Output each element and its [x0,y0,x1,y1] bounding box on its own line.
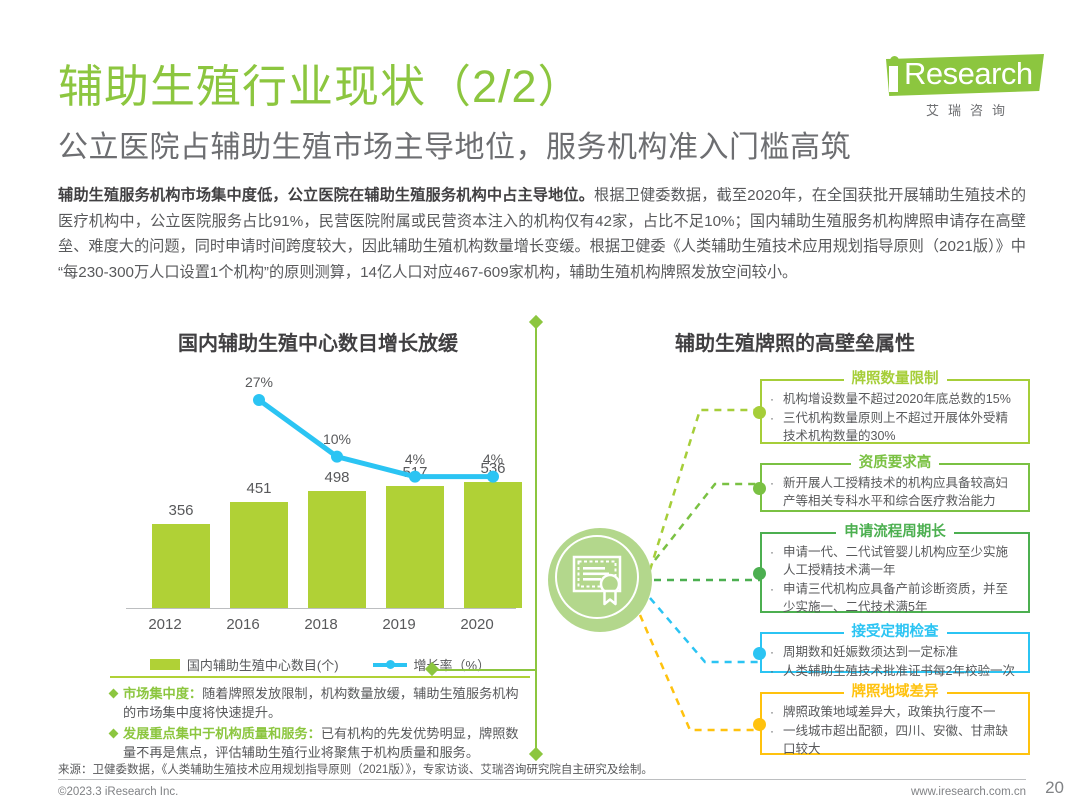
body-paragraph: 辅助生殖服务机构市场集中度低，公立医院在辅助生殖服务机构中占主导地位。根据卫健委… [58,183,1026,285]
chart-x-tick-label: 2012 [130,616,200,633]
legend-item-bars: 国内辅助生殖中心数目(个) [150,655,339,674]
legend-swatch-line-icon [373,659,407,670]
bullet-text: 申请三代机构应具备产前诊断资质，并至少实施一、二代技术满5年 [783,580,1020,616]
chart-x-tick-label: 2016 [208,616,278,633]
attribute-box-body: ·牌照政策地域差异大，政策执行度不一·一线城市超出配额，四川、安徽、甘肃缺口较大 [760,681,1030,767]
bullet-item: ·人类辅助生殖技术批准证书每2年校验一次 [770,662,1020,680]
bullet-dot-icon: · [770,703,774,721]
bullet-dot-icon: · [770,643,774,661]
bullet-dot-icon: · [770,580,774,598]
chart-plot-area: 35645149851753627%10%4%4% [126,360,516,608]
bullet-item: ·三代机构数量原则上不超过开展体外受精技术机构数量的30% [770,409,1020,445]
chart-x-tick-label: 2018 [286,616,356,633]
logo-mark: Research [872,52,1044,98]
diamond-bullet-icon [109,689,119,699]
logo-i-stem [889,66,898,92]
bullet-item: ·申请一代、二代试管婴儿机构应至少实施人工授精技术满一年 [770,543,1020,579]
bullet-text: 牌照政策地域差异大，政策执行度不一 [783,703,1020,721]
attribute-box: 牌照地域差异·牌照政策地域差异大，政策执行度不一·一线城市超出配额，四川、安徽、… [760,681,1030,755]
bullet-text: 周期数和妊娠数须达到一定标准 [783,643,1020,661]
bullet-item: ·周期数和妊娠数须达到一定标准 [770,643,1020,661]
note-text: 发展重点集中于机构质量和服务：已有机构的先发优势明显，牌照数量不再是焦点，评估辅… [123,725,530,762]
chart-line-point [331,451,343,463]
logo-i-dot-icon [890,56,899,65]
bullet-text: 人类辅助生殖技术批准证书每2年校验一次 [783,662,1020,680]
vertical-divider [535,322,537,754]
page-subtitle: 公立医院占辅助生殖市场主导地位，服务机构准入门槛高筑 [58,122,851,166]
footer-divider [58,779,1026,780]
logo-wordmark: Research [904,56,1033,92]
copyright: ©2023.3 iResearch Inc. [58,786,178,798]
divider-top-diamond-icon [529,315,543,329]
page-number: 20 [1045,778,1064,798]
bullet-item: ·一线城市超出配额，四川、安徽、甘肃缺口较大 [770,722,1020,758]
iresearch-logo: Research 艾瑞咨询 [872,52,1044,124]
bullet-text: 新开展人工授精技术的机构应具备较高妇产等相关专科水平和综合医疗救治能力 [783,474,1020,510]
bullet-dot-icon: · [770,474,774,492]
bullet-text: 机构增设数量不超过2020年底总数的15% [783,390,1020,408]
chart-line-value-label: 27% [229,374,289,390]
horizontal-connector-rule [432,669,537,671]
chart-line-value-label: 4% [463,451,523,467]
slide: 辅助生殖行业现状（2/2） 公立医院占辅助生殖市场主导地位，服务机构准入门槛高筑… [0,0,1080,810]
chart-line-point [409,471,421,483]
bar-line-chart: 35645149851753627%10%4%4% 20122016201820… [110,360,530,650]
chart-x-axis [126,608,516,609]
bullet-item: ·牌照政策地域差异大，政策执行度不一 [770,703,1020,721]
legend-swatch-bar-icon [150,659,180,670]
legend-label-bars: 国内辅助生殖中心数目(个) [187,655,339,674]
logo-chinese-name: 艾瑞咨询 [900,100,1040,119]
bullet-item: ·新开展人工授精技术的机构应具备较高妇产等相关专科水平和综合医疗救治能力 [770,474,1020,510]
insight-notes: 市场集中度：随着牌照发放限制，机构数量放缓，辅助生殖服务机构的市场集中度将快速提… [110,676,530,765]
note-item: 市场集中度：随着牌照发放限制，机构数量放缓，辅助生殖服务机构的市场集中度将快速提… [110,685,530,722]
divider-bottom-diamond-icon [529,747,543,761]
attribute-box: 接受定期检查·周期数和妊娠数须达到一定标准·人类辅助生殖技术批准证书每2年校验一… [760,621,1030,673]
right-panel-title: 辅助生殖牌照的高壁垒属性 [560,327,1030,356]
chart-legend: 国内辅助生殖中心数目(个) 增长率（%） [110,655,530,674]
bullet-item: ·机构增设数量不超过2020年底总数的15% [770,390,1020,408]
chart-x-tick-label: 2019 [364,616,434,633]
attribute-box-body: ·周期数和妊娠数须达到一定标准·人类辅助生殖技术批准证书每2年校验一次 [760,621,1030,689]
bullet-dot-icon: · [770,409,774,427]
bullet-item: ·申请三代机构应具备产前诊断资质，并至少实施一、二代技术满5年 [770,580,1020,616]
source-note: 来源：卫健委数据，《人类辅助生殖技术应用规划指导原则（2021版）》，专家访谈、… [58,761,1026,777]
legend-label-line: 增长率（%） [414,655,491,674]
attribute-box: 牌照数量限制·机构增设数量不超过2020年底总数的15%·三代机构数量原则上不超… [760,368,1030,444]
note-text: 市场集中度：随着牌照发放限制，机构数量放缓，辅助生殖服务机构的市场集中度将快速提… [123,685,530,722]
bullet-dot-icon: · [770,662,774,680]
chart-growth-line [126,360,556,608]
bullet-text: 一线城市超出配额，四川、安徽、甘肃缺口较大 [783,722,1020,758]
license-center-badge [548,528,652,632]
chart-line-value-label: 10% [307,431,367,447]
chart-line-point [487,471,499,483]
attribute-box-body: ·申请一代、二代试管婴儿机构应至少实施人工授精技术满一年·申请三代机构应具备产前… [760,521,1030,625]
bullet-text: 三代机构数量原则上不超过开展体外受精技术机构数量的30% [783,409,1020,445]
bullet-text: 申请一代、二代试管婴儿机构应至少实施人工授精技术满一年 [783,543,1020,579]
bullet-dot-icon: · [770,543,774,561]
page-title: 辅助生殖行业现状（2/2） [58,50,584,115]
website-url: www.iresearch.com.cn [911,786,1026,798]
bullet-dot-icon: · [770,390,774,408]
diamond-bullet-icon [109,729,119,739]
certificate-icon [572,554,628,606]
note-item: 发展重点集中于机构质量和服务：已有机构的先发优势明显，牌照数量不再是焦点，评估辅… [110,725,530,762]
attribute-box-body: ·新开展人工授精技术的机构应具备较高妇产等相关专科水平和综合医疗救治能力 [760,452,1030,519]
paragraph-lead: 辅助生殖服务机构市场集中度低，公立医院在辅助生殖服务机构中占主导地位。 [58,187,594,204]
bullet-dot-icon: · [770,722,774,740]
attribute-box: 申请流程周期长·申请一代、二代试管婴儿机构应至少实施人工授精技术满一年·申请三代… [760,521,1030,613]
chart-x-tick-label: 2020 [442,616,512,633]
chart-title: 国内辅助生殖中心数目增长放缓 [128,327,508,356]
note-label: 市场集中度： [123,686,202,701]
note-label: 发展重点集中于机构质量和服务： [123,726,321,741]
attribute-box-body: ·机构增设数量不超过2020年底总数的15%·三代机构数量原则上不超过开展体外受… [760,368,1030,454]
chart-line-point [253,394,265,406]
chart-line-value-label: 4% [385,451,445,467]
attribute-box: 资质要求高·新开展人工授精技术的机构应具备较高妇产等相关专科水平和综合医疗救治能… [760,452,1030,512]
